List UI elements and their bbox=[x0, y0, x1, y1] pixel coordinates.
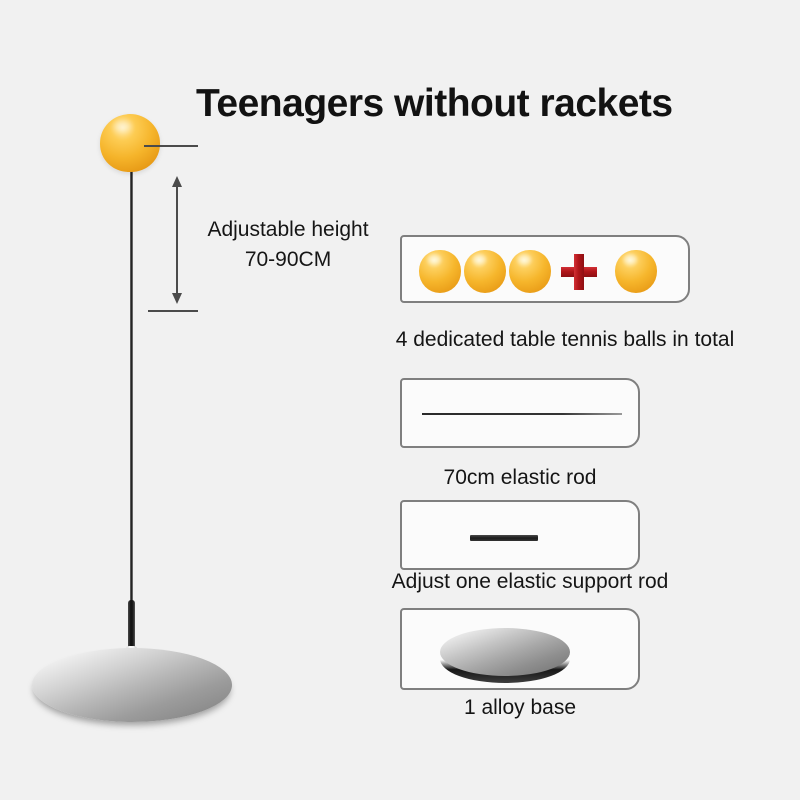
alloy-base-icon bbox=[440, 628, 570, 676]
support-rod-icon bbox=[470, 535, 538, 541]
plus-icon-vertical-bar bbox=[574, 254, 584, 290]
product-illustration: Adjustable height 70-90CM bbox=[0, 90, 380, 770]
ball-icon-1 bbox=[419, 250, 461, 293]
panel-balls bbox=[400, 235, 690, 303]
elastic-rod-icon bbox=[422, 413, 622, 415]
caption-support-rod: Adjust one elastic support rod bbox=[360, 570, 700, 594]
product-base-ellipse bbox=[32, 648, 232, 722]
caption-alloy-base: 1 alloy base bbox=[400, 696, 640, 720]
panel-support-rod bbox=[400, 500, 640, 570]
dimension-label: Adjustable height 70-90CM bbox=[188, 215, 388, 276]
product-ball-top bbox=[100, 114, 160, 172]
product-rod-upper bbox=[130, 140, 133, 610]
ball-icon-4 bbox=[615, 250, 657, 293]
ball-icon-2 bbox=[464, 250, 506, 293]
ball-icon-3 bbox=[509, 250, 551, 293]
dimension-label-line1: Adjustable height bbox=[207, 218, 368, 241]
caption-balls: 4 dedicated table tennis balls in total bbox=[330, 328, 800, 352]
infographic-canvas: Teenagers without rackets Adjustable hei… bbox=[0, 0, 800, 800]
dimension-arrow-icon bbox=[169, 176, 185, 304]
product-ball-lower bbox=[102, 284, 160, 340]
dimension-label-line2: 70-90CM bbox=[188, 245, 388, 275]
plus-icon bbox=[559, 253, 599, 291]
leader-line-bottom bbox=[148, 310, 198, 312]
panel-alloy-base bbox=[400, 608, 640, 690]
caption-elastic-rod: 70cm elastic rod bbox=[400, 466, 640, 490]
leader-line-top bbox=[144, 145, 198, 147]
panel-elastic-rod bbox=[400, 378, 640, 448]
